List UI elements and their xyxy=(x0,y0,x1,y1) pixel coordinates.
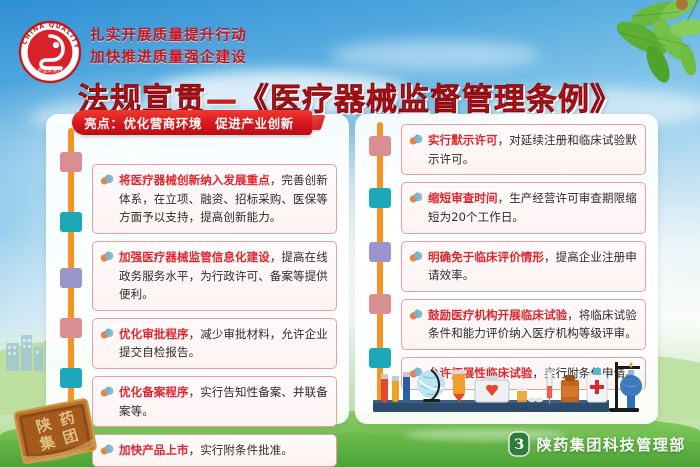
timeline-block xyxy=(60,368,82,388)
wooden-carved-seal-stamp: 陕 药 集 团 xyxy=(10,392,101,467)
timeline-left xyxy=(66,128,76,410)
left-panel: 亮点：优化营商环境 促进产业创新 将医疗器械创新纳入发展重点，完善创新体系，在立… xyxy=(46,114,349,424)
footer: З 陕药集团科技管理部 xyxy=(508,431,686,457)
list-item: 优化审批程序，减少审批材料，允许企业提交自检报告。 xyxy=(92,318,337,369)
svg-text:中国质量月: 中国质量月 xyxy=(37,67,62,74)
slogan-line-1: 扎实开展质量提升行动 xyxy=(90,26,247,48)
timeline-block xyxy=(60,268,82,288)
timeline-block xyxy=(60,318,82,338)
slogan-block: 扎实开展质量提升行动 加快推进质量强企建设 xyxy=(90,26,247,70)
timeline-block xyxy=(369,294,391,314)
capsule-icon xyxy=(100,173,114,185)
item-highlight: 加强医疗器械监管信息化建设 xyxy=(119,250,270,264)
list-item: 缩短审查时间，生产经营许可审查期限缩短为20个工作日。 xyxy=(401,182,646,233)
list-item: 优化备案程序，实行告知性备案、并联备案等。 xyxy=(92,376,337,427)
item-highlight: 缩短审查时间 xyxy=(428,191,498,205)
capsule-icon xyxy=(409,133,423,145)
highlight-ribbon: 亮点：优化营商环境 促进产业创新 xyxy=(64,107,336,139)
item-highlight: 明确免于临床评价情形 xyxy=(428,250,544,264)
list-item: 加快产品上市，实行附条件批准。 xyxy=(92,434,337,467)
timeline-block xyxy=(369,136,391,156)
svg-text:З: З xyxy=(514,437,524,453)
item-highlight: 优化审批程序 xyxy=(119,327,189,341)
timeline-block xyxy=(369,188,391,208)
timeline-block xyxy=(60,212,82,232)
medical-lab-equipment-illustration xyxy=(369,356,645,418)
right-panel: 实行默示许可，对延续注册和临床试验默示许可。 缩短审查时间，生产经营许可审查期限… xyxy=(355,114,658,424)
item-highlight: 加快产品上市 xyxy=(119,443,189,457)
footer-org-name: 陕药集团科技管理部 xyxy=(537,434,686,455)
capsule-icon xyxy=(409,191,423,203)
capsule-icon xyxy=(100,385,114,397)
item-highlight: 将医疗器械创新纳入发展重点 xyxy=(119,173,270,187)
slogan-line-2: 加快推进质量强企建设 xyxy=(90,48,247,70)
cloud-wisp xyxy=(330,40,540,70)
capsule-icon xyxy=(100,250,114,262)
left-card-list: 将医疗器械创新纳入发展重点，完善创新体系，在立项、融资、招标采购、医保等方面予以… xyxy=(92,164,337,467)
capsule-icon xyxy=(100,443,114,455)
poster-canvas: CHINA QUALITY MONTH 中国质量月 扎实开展质量提升行动 加快推… xyxy=(0,0,700,467)
list-item: 加强医疗器械监管信息化建设，提高在线政务服务水平，为行政许可、备案等提供便利。 xyxy=(92,241,337,311)
item-highlight: 实行默示许可 xyxy=(428,133,498,147)
capsule-icon xyxy=(409,308,423,320)
timeline-block xyxy=(369,242,391,262)
list-item: 实行默示许可，对延续注册和临床试验默示许可。 xyxy=(401,124,646,175)
ribbon-label: 亮点：优化营商环境 促进产业创新 xyxy=(72,110,312,135)
item-highlight: 鼓励医疗机构开展临床试验 xyxy=(428,308,567,322)
list-item: 鼓励医疗机构开展临床试验，将临床试验条件和能力评价纳入医疗机构等级评审。 xyxy=(401,299,646,350)
capsule-icon xyxy=(100,327,114,339)
item-highlight: 优化备案程序 xyxy=(119,385,189,399)
timeline-block xyxy=(60,152,82,172)
list-item: 将医疗器械创新纳入发展重点，完善创新体系，在立项、融资、招标采购、医保等方面予以… xyxy=(92,164,337,234)
list-item: 明确免于临床评价情形，提高企业注册申请效率。 xyxy=(401,241,646,292)
capsule-icon xyxy=(409,250,423,262)
shaanxi-pharma-group-logo-icon: З xyxy=(508,431,530,457)
item-body: ，实行附条件批准。 xyxy=(189,443,293,457)
